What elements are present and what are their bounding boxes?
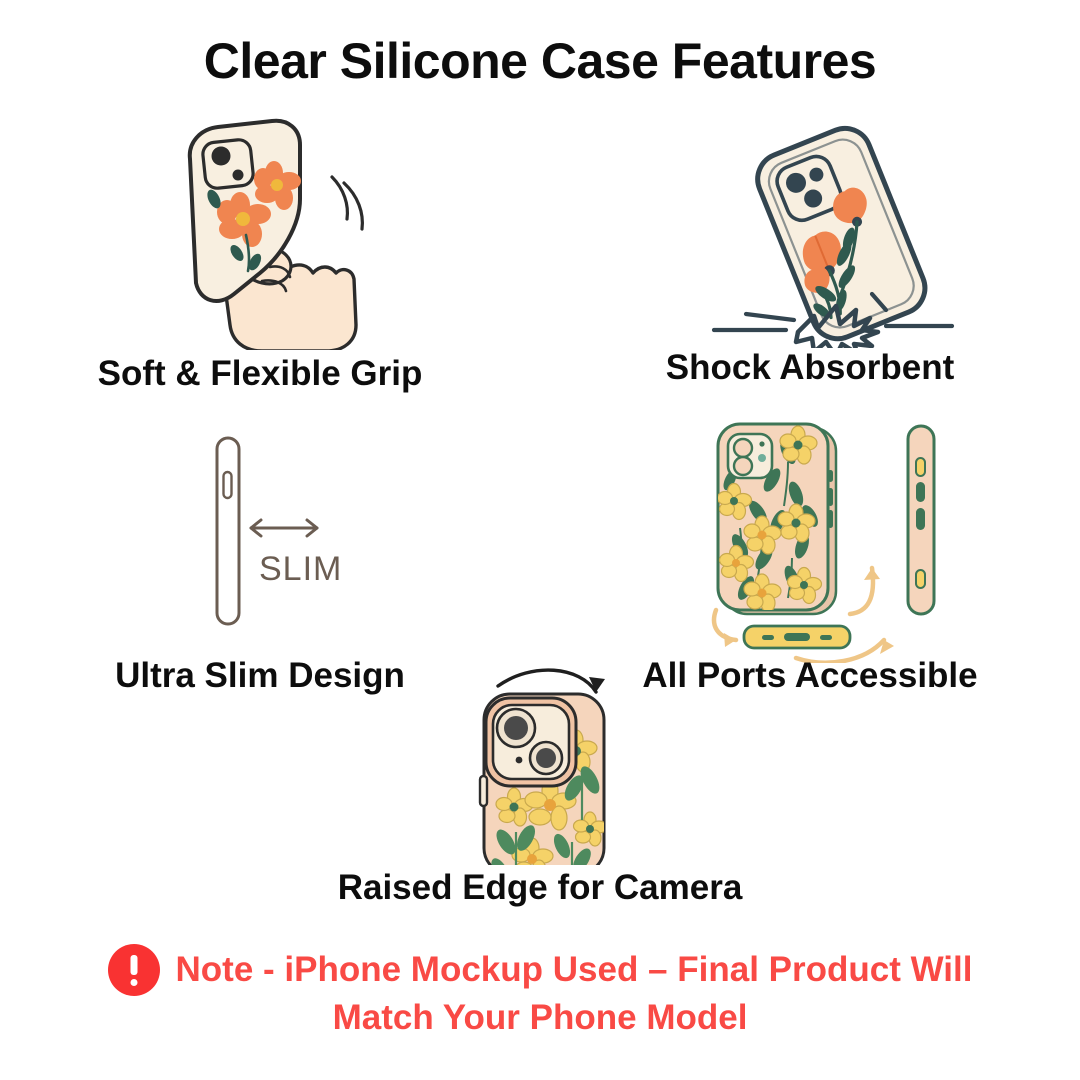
width-arrow-icon — [251, 520, 317, 536]
disclaimer-note: Note - iPhone Mockup Used – Final Produc… — [0, 944, 1080, 1041]
note-line-1: Note - iPhone Mockup Used – Final Produc… — [176, 948, 973, 993]
camera-pointer-arrow — [498, 670, 605, 692]
volume-button-down — [916, 482, 925, 502]
camera-lens-top — [212, 147, 231, 166]
camera-lens-1 — [734, 439, 752, 457]
note-line-2: Match Your Phone Model — [0, 996, 1080, 1041]
side-button — [480, 776, 487, 806]
slim-annotation-text: SLIM — [259, 550, 342, 588]
camera-lens-2 — [734, 457, 752, 475]
speaker-right — [820, 635, 832, 640]
tilted-phone-case — [750, 121, 933, 347]
charging-port — [784, 633, 810, 641]
feature-label-camera: Raised Edge for Camera — [0, 868, 1080, 908]
infographic-page: Clear Silicone Case Features — [0, 0, 1080, 1080]
speaker-left — [762, 635, 774, 640]
camera-lens-bottom — [233, 170, 244, 181]
all-ports-accessible-illustration — [700, 418, 960, 663]
phone-side-view — [908, 426, 934, 614]
page-title: Clear Silicone Case Features — [0, 34, 1080, 89]
volume-button-up — [916, 458, 925, 476]
soft-flexible-grip-illustration — [130, 115, 400, 350]
sim-tray — [916, 570, 925, 588]
phone-case-body — [480, 694, 607, 865]
camera-flash — [516, 757, 523, 764]
phone-back-case — [718, 424, 837, 614]
shock-absorbent-illustration — [690, 118, 970, 348]
raised-camera-bump — [486, 698, 576, 786]
feature-label-grip: Soft & Flexible Grip — [0, 354, 520, 394]
phone-side-profile — [217, 438, 239, 624]
phone-bottom-port-view — [744, 626, 850, 648]
feature-label-shock: Shock Absorbent — [540, 348, 1080, 388]
side-button — [224, 472, 232, 498]
camera-module — [202, 139, 255, 190]
motion-arc-lines — [332, 177, 362, 229]
ultra-slim-design-illustration: SLIM — [175, 428, 385, 633]
exclamation-circle-icon — [108, 944, 160, 996]
side-buttons — [828, 470, 833, 528]
power-button — [916, 508, 925, 530]
raised-edge-camera-illustration — [440, 660, 680, 865]
